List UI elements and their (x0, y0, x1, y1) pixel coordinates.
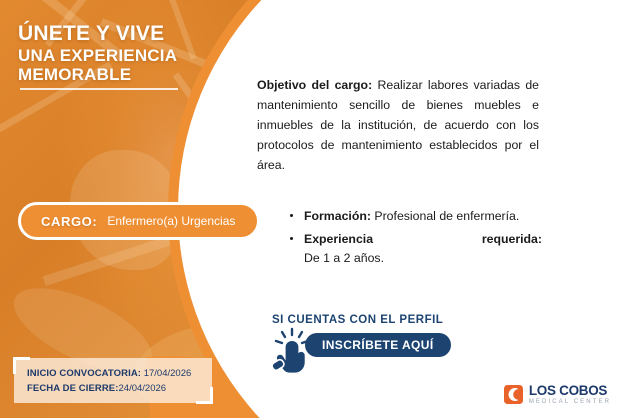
end-date-row: FECHA DE CIERRE:24/04/2026 (27, 382, 191, 397)
logo-subtitle: MEDICAL CENTER (529, 399, 611, 405)
start-date-label: INICIO CONVOCATORIA: (27, 368, 141, 379)
end-date-value: 24/04/2026 (119, 383, 167, 394)
requirement-label: Formación: (304, 209, 371, 223)
requirement-label-cont: requerida: (482, 230, 542, 248)
requirements-list: Formación: Profesional de enfermería. Ex… (287, 207, 542, 272)
headline: ÚNETE Y VIVE UNA EXPERIENCIA MEMORABLE (18, 22, 233, 85)
headline-divider (20, 88, 178, 90)
cargo-value: Enfermero(a) Urgencias (107, 214, 235, 228)
corner-bracket-bottom-right (196, 387, 213, 404)
requirement-label: Experiencia (304, 230, 373, 248)
c-monogram-icon (504, 385, 523, 404)
cta-caption: SI CUENTAS CON EL PERFIL (272, 314, 443, 326)
logo-text: LOS COBOS MEDICAL CENTER (529, 384, 611, 406)
requirement-value: Profesional de enfermería. (371, 209, 519, 223)
list-item: Experiencia requerida: De 1 a 2 años. (287, 230, 542, 267)
start-date-value: 17/04/2026 (141, 368, 191, 379)
company-logo: LOS COBOS MEDICAL CENTER (504, 384, 611, 406)
job-posting-poster: ÚNETE Y VIVE UNA EXPERIENCIA MEMORABLE C… (0, 0, 627, 418)
apply-button[interactable]: INSCRÍBETE AQUÍ (305, 333, 451, 357)
objective-title: Objetivo del cargo: (257, 78, 372, 92)
requirement-value: De 1 a 2 años. (304, 251, 384, 265)
start-date-row: INICIO CONVOCATORIA: 17/04/2026 (27, 367, 191, 382)
list-item: Formación: Profesional de enfermería. (287, 207, 542, 225)
headline-line-1: ÚNETE Y VIVE (18, 22, 233, 46)
dates-box: INICIO CONVOCATORIA: 17/04/2026 FECHA DE… (14, 358, 212, 403)
cargo-badge: CARGO: Enfermero(a) Urgencias (18, 202, 260, 240)
headline-line-2: UNA EXPERIENCIA (18, 46, 233, 65)
headline-line-3: MEMORABLE (18, 65, 233, 84)
logo-name: LOS COBOS (529, 384, 611, 398)
objective-paragraph: Objetivo del cargo: Realizar labores var… (257, 76, 539, 176)
cargo-label: CARGO: (41, 214, 97, 229)
dates-text: INICIO CONVOCATORIA: 17/04/2026 FECHA DE… (27, 367, 191, 396)
objective-text: Realizar labores variadas de mantenimien… (257, 78, 539, 172)
end-date-label: FECHA DE CIERRE: (27, 383, 119, 394)
